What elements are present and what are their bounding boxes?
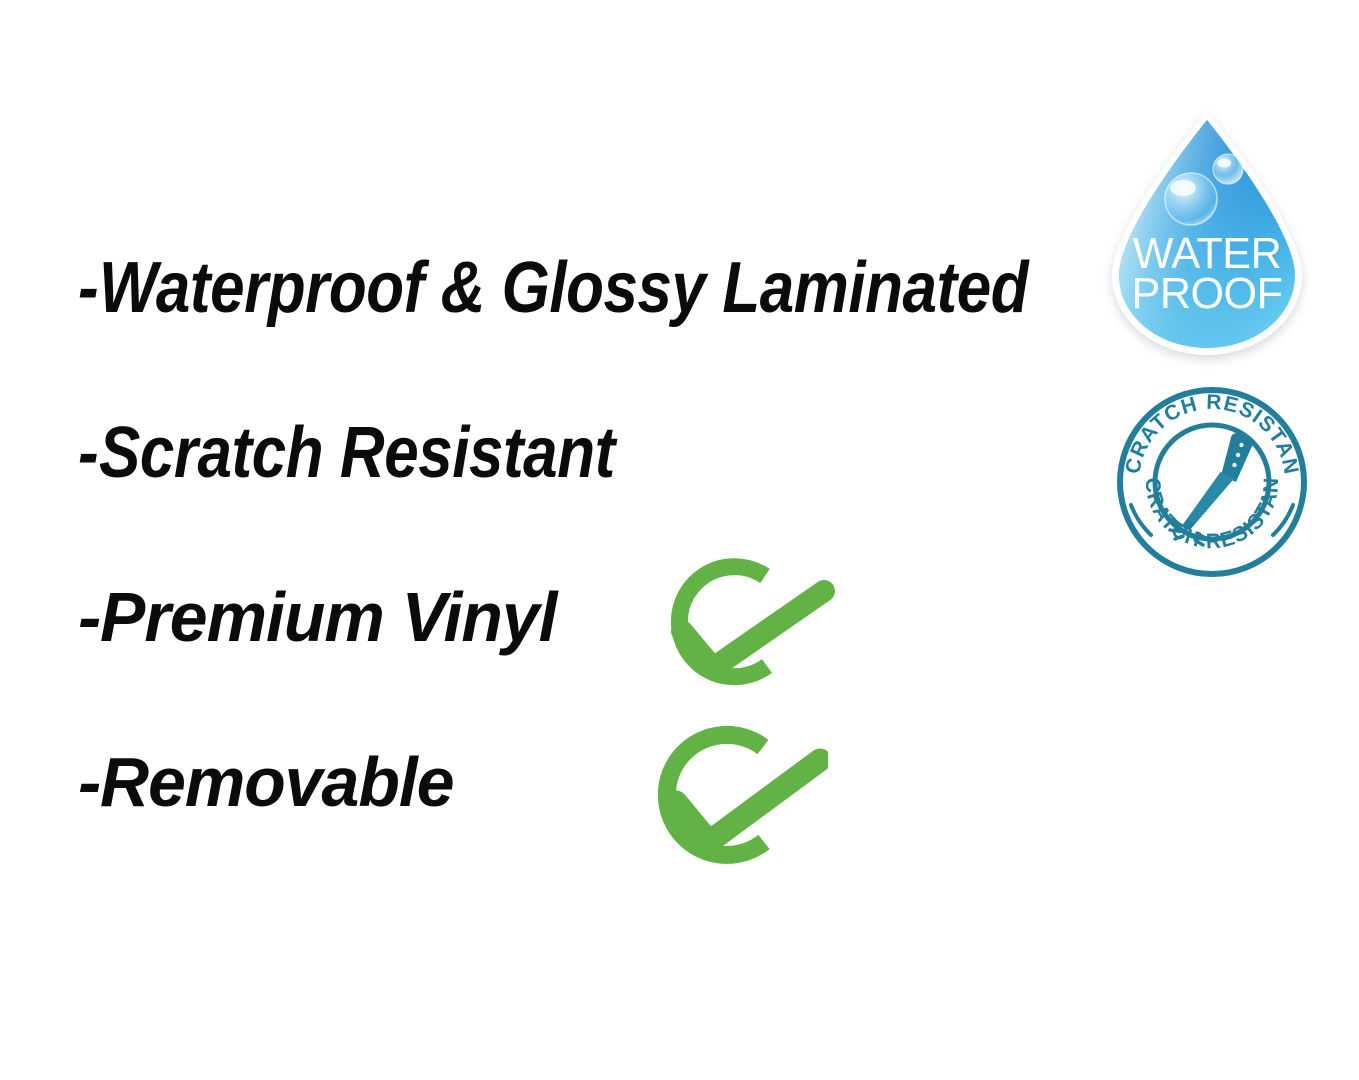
check-circle-icon-2 xyxy=(628,722,828,887)
check-tick xyxy=(676,760,820,842)
scratch-text-top: SCRATCH RESISTANT xyxy=(1117,387,1303,477)
feature-item-waterproof: - Waterproof & Glossy Laminated xyxy=(78,252,1098,417)
feature-highlights-canvas: - Waterproof & Glossy Laminated - Scratc… xyxy=(0,0,1359,1080)
check-tick xyxy=(682,591,824,668)
feature-item-scratch-resistant: - Scratch Resistant xyxy=(78,417,1098,582)
feature-item-removable: - Removable xyxy=(78,747,1098,912)
feature-label: Waterproof & Glossy Laminated xyxy=(99,252,1028,324)
waterproof-badge: WATER PROOF xyxy=(1106,108,1308,358)
water-drop-icon xyxy=(1106,108,1308,358)
feature-label: Premium Vinyl xyxy=(100,582,557,652)
feature-dash: - xyxy=(78,747,100,817)
feature-dash: - xyxy=(78,252,98,324)
check-circle-icon-1 xyxy=(637,558,837,713)
feature-label: Removable xyxy=(100,747,454,817)
feature-list: - Waterproof & Glossy Laminated - Scratc… xyxy=(78,252,1098,912)
feature-item-premium-vinyl: - Premium Vinyl xyxy=(78,582,1098,747)
feature-dash: - xyxy=(78,582,100,652)
feature-label: Scratch Resistant xyxy=(99,417,615,489)
scratch-resistant-badge: SCRATCH RESISTANT SCRATCH RESISTANT xyxy=(1117,387,1307,577)
feature-dash: - xyxy=(78,417,98,489)
